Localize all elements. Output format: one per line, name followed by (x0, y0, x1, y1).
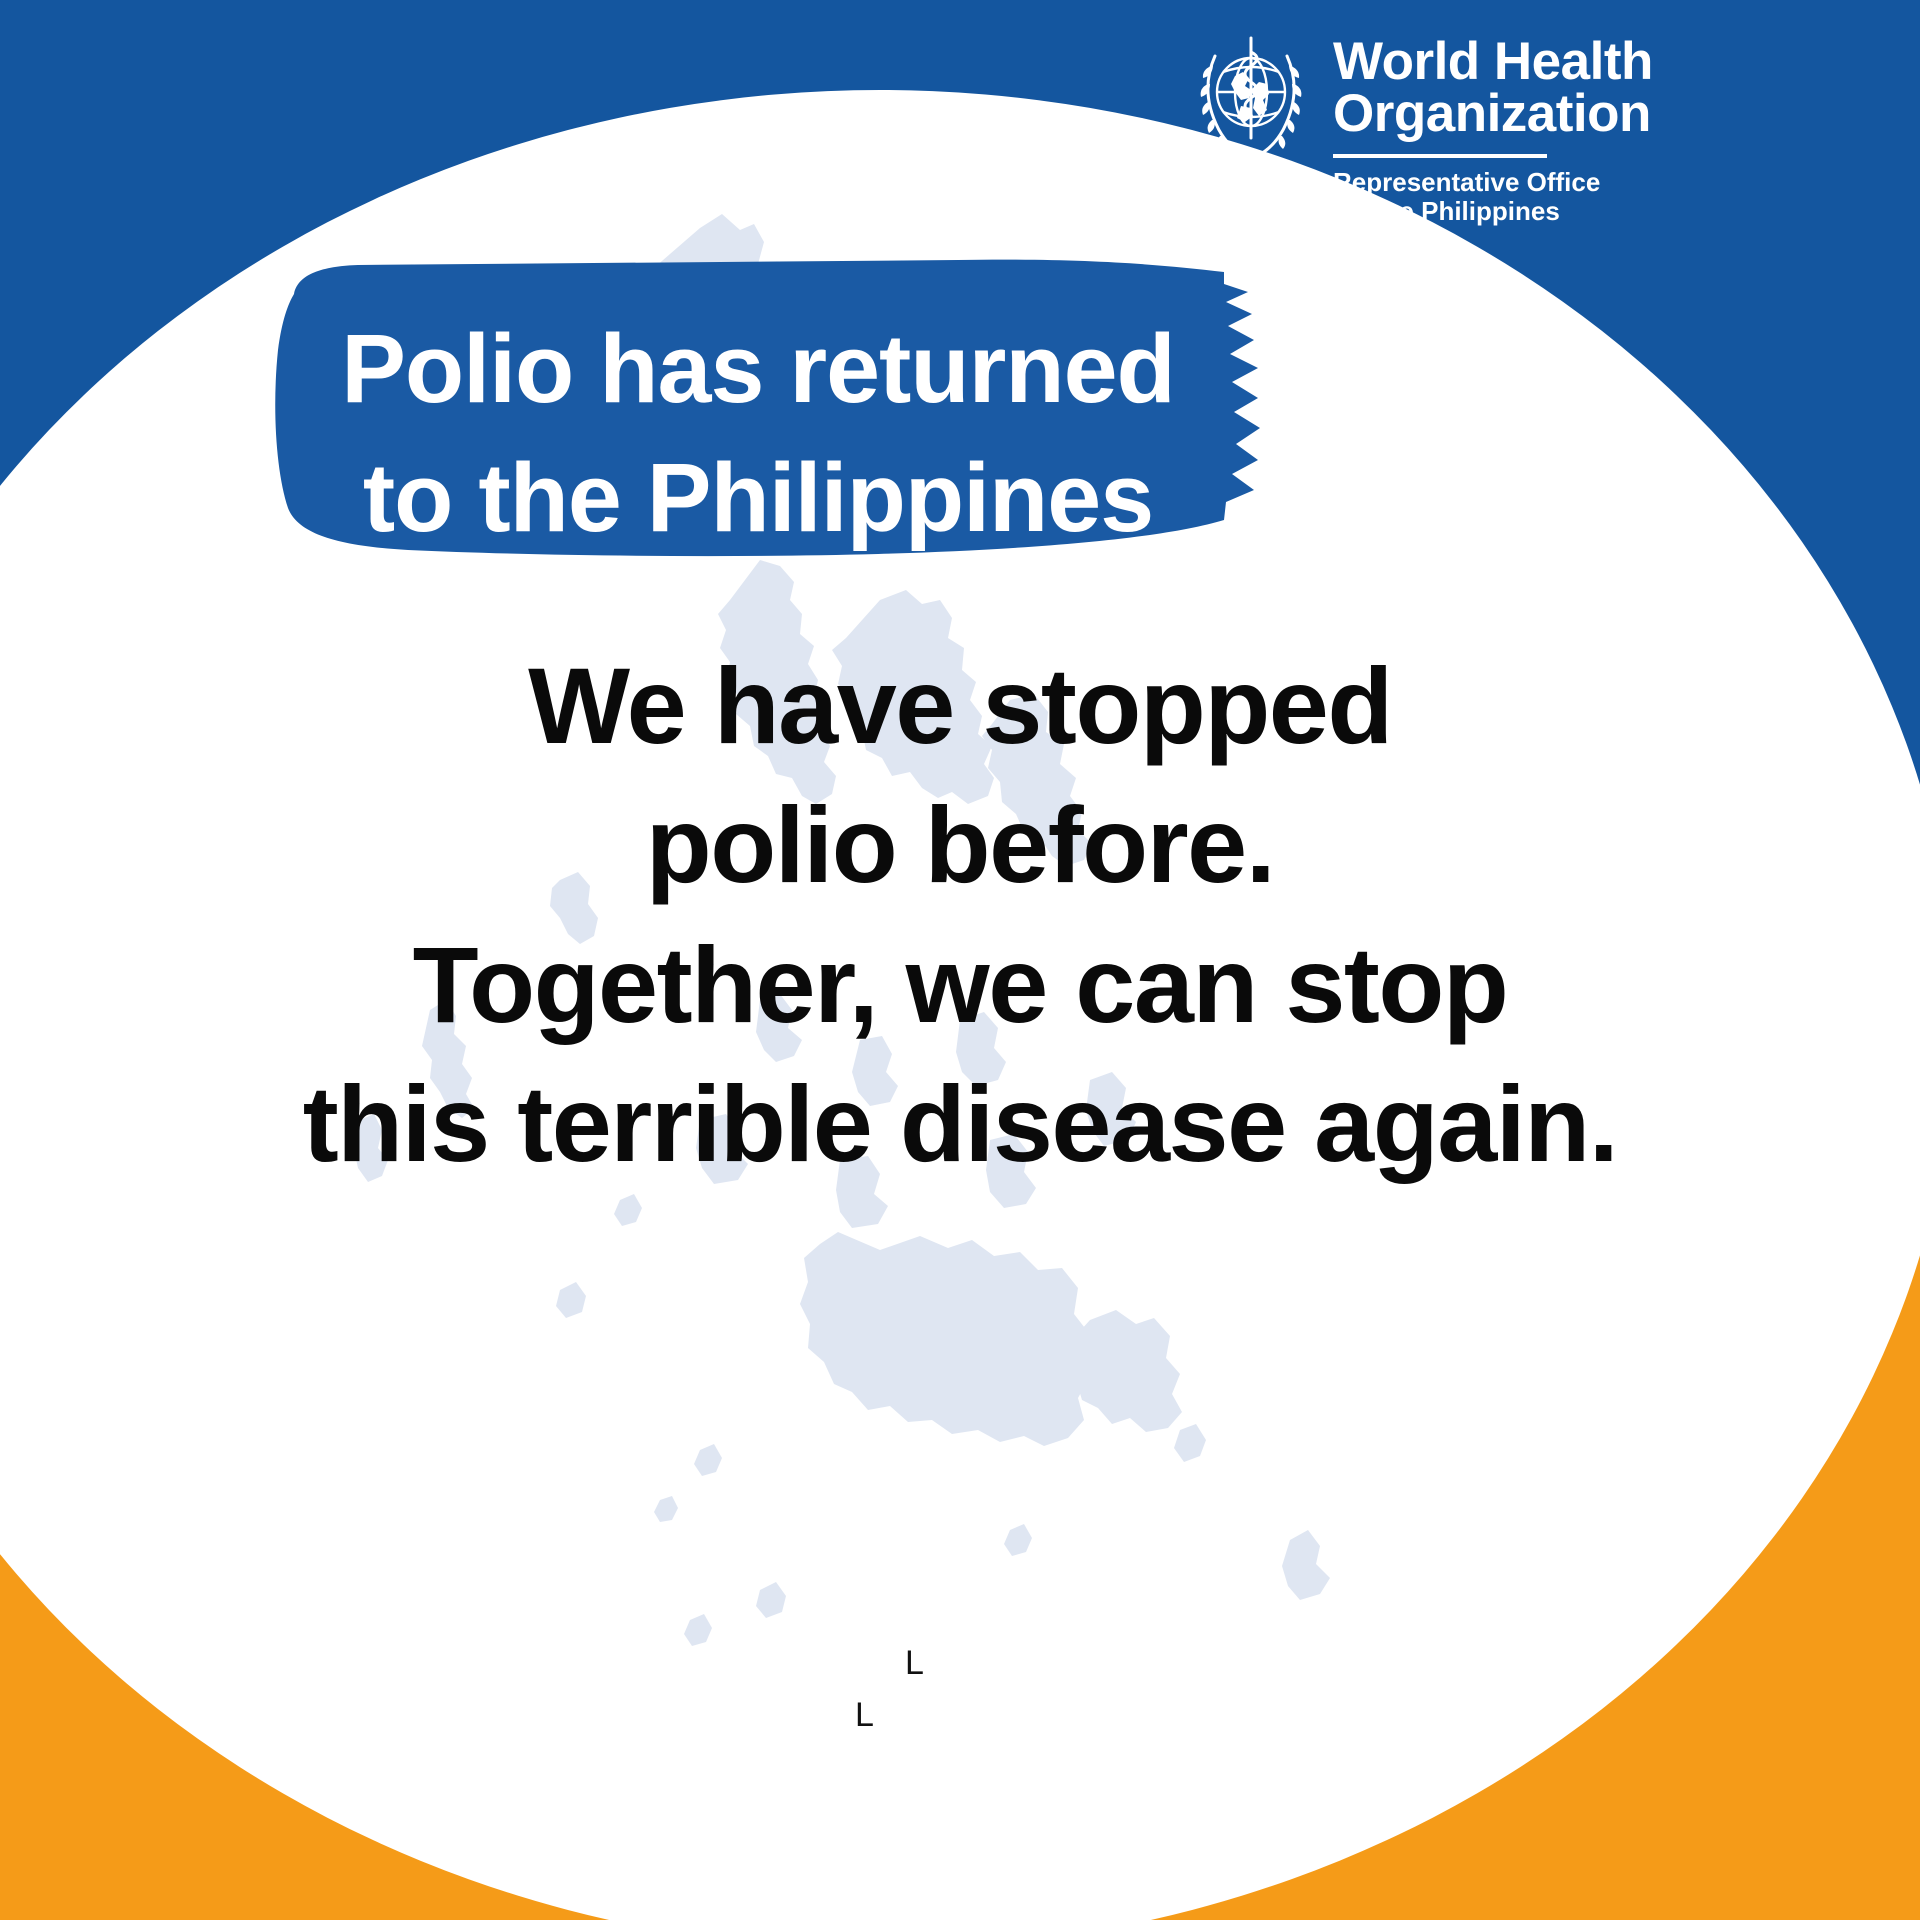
headline-text: Polio has returned to the Philippines (258, 304, 1258, 562)
who-sub-line-2: for the Philippines (1333, 197, 1653, 226)
body-line-3: Together, we can stop (0, 915, 1920, 1054)
who-wordmark: World Health Organization Representative… (1333, 20, 1653, 226)
who-emblem-icon (1185, 26, 1317, 178)
headline-line-2: to the Philippines (258, 433, 1258, 562)
who-logo: World Health Organization Representative… (1185, 20, 1905, 220)
headline-line-1: Polio has returned (258, 304, 1258, 433)
body-line-1: We have stopped (0, 636, 1920, 775)
body-line-2: polio before. (0, 775, 1920, 914)
who-sub-line-1: Representative Office (1333, 168, 1653, 197)
body-line-4: this terrible disease again. (0, 1054, 1920, 1193)
who-name-line-1: World Health (1333, 36, 1653, 88)
orange-ellipse-arc (0, 1120, 1920, 1920)
logo-rule (1333, 154, 1547, 158)
stray-glyph-2: L (855, 1698, 874, 1732)
stray-glyph-1: L (905, 1646, 924, 1680)
poster-canvas: World Health Organization Representative… (0, 0, 1920, 1920)
body-message: We have stopped polio before. Together, … (0, 636, 1920, 1193)
who-name-line-2: Organization (1333, 88, 1653, 140)
headline-banner: Polio has returned to the Philippines (258, 258, 1308, 588)
